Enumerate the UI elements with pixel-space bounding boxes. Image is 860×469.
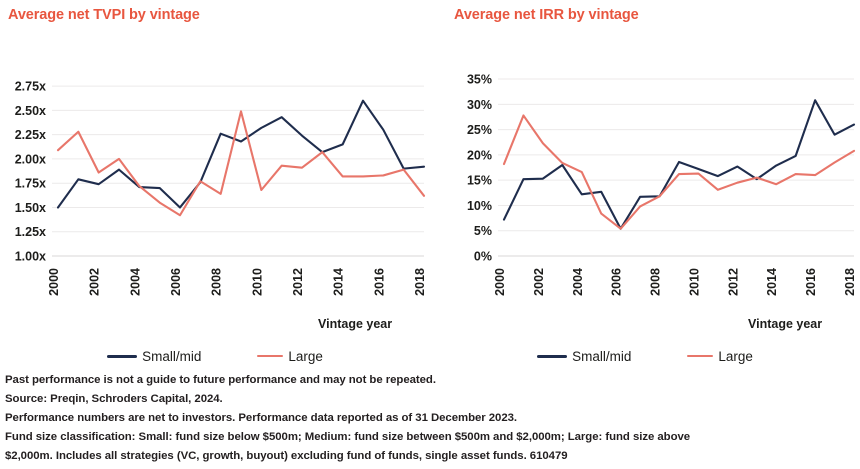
legend-irr: Small/mid Large — [430, 344, 860, 368]
chart-title-tvpi: Average net TVPI by vintage — [8, 7, 200, 23]
legend-item-small-mid[interactable]: Small/mid — [107, 349, 201, 364]
y-axis-tick-label: 20% — [467, 148, 492, 162]
footnote-line: Past performance is not a guide to futur… — [5, 371, 855, 390]
legend-item-large[interactable]: Large — [687, 349, 753, 364]
legend-label-small-mid: Small/mid — [142, 349, 201, 364]
chart-panel-irr: Average net IRR by vintage 0%5%10%15%20%… — [430, 0, 860, 368]
y-axis-tick-label: 2.00x — [15, 152, 46, 166]
y-axis-tick-label: 5% — [474, 224, 492, 238]
chart-title-irr: Average net IRR by vintage — [454, 7, 639, 23]
y-axis-tick-label: 2.75x — [15, 80, 46, 94]
legend-row: Small/mid Large Small/mid Large — [0, 344, 860, 368]
series-line-large — [504, 115, 854, 228]
footnotes: Past performance is not a guide to futur… — [5, 371, 855, 466]
legend-swatch-large — [257, 355, 283, 357]
charts-container: Average net TVPI by vintage 1.00x1.25x1.… — [0, 0, 860, 368]
y-axis-tick-label: 1.25x — [15, 225, 46, 239]
y-axis-tick-label: 1.75x — [15, 177, 46, 191]
legend-label-large: Large — [288, 349, 323, 364]
footnote-line: Source: Preqin, Schroders Capital, 2024. — [5, 390, 855, 409]
legend-label-small-mid: Small/mid — [572, 349, 631, 364]
legend-swatch-small-mid — [537, 355, 567, 358]
line-chart-irr: 0%5%10%15%20%25%30%35%200020022004200620… — [430, 58, 860, 338]
x-axis-tick-label: 2006 — [610, 268, 624, 296]
y-axis-tick-label: 2.50x — [15, 104, 46, 118]
legend-item-large[interactable]: Large — [257, 349, 323, 364]
x-axis-tick-label: 2008 — [649, 268, 663, 296]
x-axis-title-irr: Vintage year — [748, 317, 822, 331]
y-axis-tick-label: 25% — [467, 123, 492, 137]
x-axis-tick-label: 2002 — [88, 268, 102, 296]
y-axis-tick-label: 30% — [467, 98, 492, 112]
y-axis-tick-label: 35% — [467, 73, 492, 87]
x-axis-tick-label: 2010 — [687, 268, 701, 296]
line-chart-tvpi: 1.00x1.25x1.50x1.75x2.00x2.25x2.50x2.75x… — [0, 58, 430, 338]
y-axis-tick-label: 15% — [467, 174, 492, 188]
x-axis-tick-label: 2012 — [291, 268, 305, 296]
series-line-small-mid — [58, 101, 424, 208]
series-line-small-mid — [504, 100, 854, 228]
plot-area-tvpi: 1.00x1.25x1.50x1.75x2.00x2.25x2.50x2.75x… — [0, 58, 430, 338]
legend-swatch-large — [687, 355, 713, 357]
x-axis-tick-label: 2000 — [493, 268, 507, 296]
plot-area-irr: 0%5%10%15%20%25%30%35%200020022004200620… — [430, 58, 860, 338]
x-axis-tick-label: 2006 — [169, 268, 183, 296]
y-axis-tick-label: 0% — [474, 250, 492, 264]
y-axis-tick-label: 1.50x — [15, 201, 46, 215]
x-axis-tick-label: 2014 — [332, 268, 346, 296]
x-axis-tick-label: 2016 — [372, 268, 386, 296]
y-axis-tick-label: 1.00x — [15, 250, 46, 264]
legend-tvpi: Small/mid Large — [0, 344, 430, 368]
x-axis-title-tvpi: Vintage year — [318, 317, 392, 331]
x-axis-tick-label: 2004 — [128, 268, 142, 296]
footnote-line: Performance numbers are net to investors… — [5, 409, 855, 428]
x-axis-tick-label: 2000 — [47, 268, 61, 296]
x-axis-tick-label: 2004 — [571, 268, 585, 296]
x-axis-tick-label: 2012 — [726, 268, 740, 296]
y-axis-tick-label: 2.25x — [15, 128, 46, 142]
legend-item-small-mid[interactable]: Small/mid — [537, 349, 631, 364]
footnote-line: Fund size classification: Small: fund si… — [5, 428, 855, 447]
x-axis-tick-label: 2008 — [210, 268, 224, 296]
legend-label-large: Large — [718, 349, 753, 364]
y-axis-tick-label: 10% — [467, 199, 492, 213]
legend-swatch-small-mid — [107, 355, 137, 358]
x-axis-tick-label: 2002 — [532, 268, 546, 296]
x-axis-tick-label: 2016 — [804, 268, 818, 296]
x-axis-tick-label: 2014 — [765, 268, 779, 296]
footnote-line: $2,000m. Includes all strategies (VC, gr… — [5, 447, 855, 466]
series-line-large — [58, 111, 424, 215]
x-axis-tick-label: 2018 — [413, 268, 427, 296]
x-axis-tick-label: 2018 — [843, 268, 857, 296]
chart-panel-tvpi: Average net TVPI by vintage 1.00x1.25x1.… — [0, 0, 430, 368]
x-axis-tick-label: 2010 — [250, 268, 264, 296]
